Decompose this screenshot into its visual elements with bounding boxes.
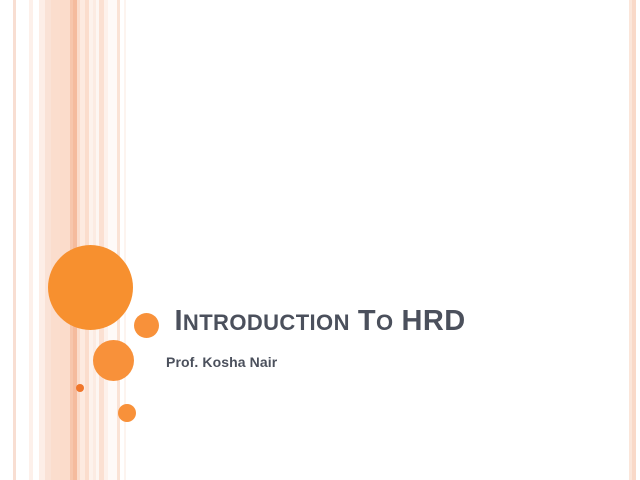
- stripe-14: [89, 0, 93, 480]
- stripe-15: [93, 0, 96, 480]
- stripe-4: [33, 0, 39, 480]
- title-word2-rest: O: [376, 310, 394, 335]
- stripe-16: [96, 0, 99, 480]
- title-word1-lead: I: [174, 305, 182, 337]
- title-word3: HRD: [402, 305, 466, 337]
- circle-small-2: [118, 404, 136, 422]
- title-block: INTRODUCTIONTOHRD: [0, 306, 640, 338]
- presenter-name: Prof. Kosha Nair: [166, 354, 586, 371]
- stripe-8: [60, 0, 70, 480]
- stripe-19: [108, 0, 117, 480]
- circle-tiny: [76, 384, 84, 392]
- page-title: INTRODUCTIONTOHRD: [174, 306, 465, 338]
- stripe-17: [99, 0, 104, 480]
- stripe-7: [51, 0, 60, 480]
- stripe-11: [77, 0, 80, 480]
- stripe-3: [29, 0, 33, 480]
- stripe-12: [80, 0, 85, 480]
- stripe-right-2: [632, 0, 636, 480]
- stripe-5: [39, 0, 45, 480]
- stripe-6: [45, 0, 51, 480]
- subtitle-block: Prof. Kosha Nair: [166, 354, 586, 371]
- presentation-slide: INTRODUCTIONTOHRD Prof. Kosha Nair: [0, 0, 640, 480]
- stripe-13: [85, 0, 89, 480]
- title-word1-rest: NTRODUCTION: [183, 310, 350, 335]
- stripe-10: [73, 0, 77, 480]
- title-word2-lead: T: [358, 305, 376, 337]
- stripe-2: [16, 0, 29, 480]
- stripe-9: [70, 0, 73, 480]
- stripe-right-1: [629, 0, 632, 480]
- stripe-18: [104, 0, 108, 480]
- stripe-1: [13, 0, 16, 480]
- circle-medium: [93, 340, 134, 381]
